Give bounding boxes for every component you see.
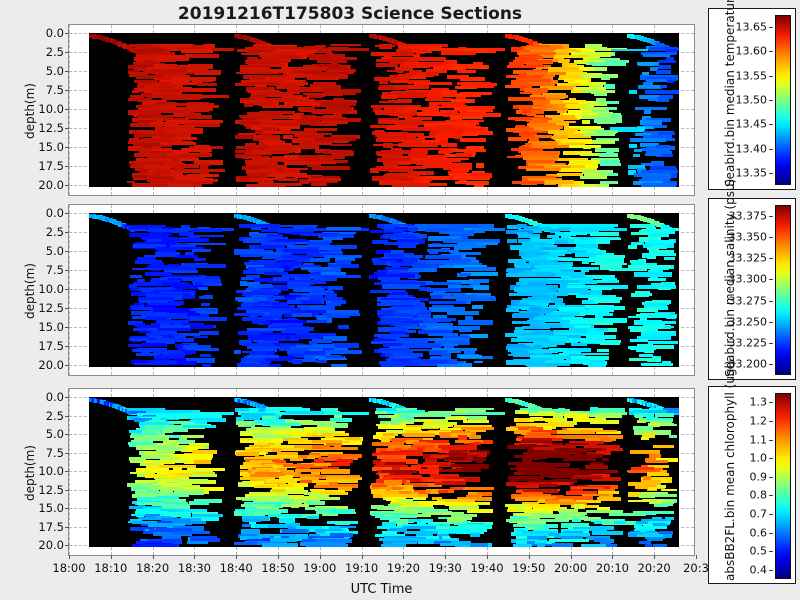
data-segment <box>325 293 337 297</box>
data-segment <box>376 168 392 171</box>
data-segment <box>331 364 347 367</box>
data-segment <box>234 542 257 545</box>
data-segment <box>667 80 674 83</box>
data-segment <box>270 538 297 542</box>
data-segment <box>292 360 302 364</box>
data-segment <box>329 512 355 515</box>
y-axis-tick-label: 10.0 <box>38 282 64 296</box>
colorbar-tick-label: 1.0 <box>750 452 768 465</box>
data-segment <box>241 511 251 516</box>
data-segment <box>552 543 573 547</box>
data-segment <box>601 77 610 80</box>
y-axis-tick-label: 7.5 <box>46 446 64 460</box>
data-segment <box>317 59 347 63</box>
x-axis-tick-label: 18:20 <box>136 561 169 575</box>
data-segment <box>185 115 213 119</box>
data-segment <box>648 487 657 490</box>
plot-area-chlorophyll <box>69 389 694 555</box>
data-segment <box>285 411 324 415</box>
data-segment <box>579 224 618 227</box>
data-segment <box>533 457 541 460</box>
data-segment <box>476 163 484 168</box>
data-segment <box>192 474 217 477</box>
data-segment <box>425 98 452 101</box>
colorbar-gradient-salinity <box>775 205 791 375</box>
data-segment <box>321 469 350 473</box>
data-segment <box>134 363 170 366</box>
y-axis-tick-label: 17.5 <box>38 520 64 534</box>
data-segment <box>664 326 674 329</box>
y-axis-tick-label: 15.0 <box>38 320 64 334</box>
data-segment <box>316 497 339 500</box>
colorbar-axis-label-temperature: Seabird.bin median temperature (degC) <box>723 0 737 187</box>
data-segment <box>279 518 295 522</box>
data-segment <box>155 95 170 99</box>
data-segment <box>582 120 590 124</box>
data-segment <box>455 86 477 90</box>
data-segment <box>419 469 439 473</box>
data-segment <box>596 239 609 242</box>
data-segment <box>393 52 402 56</box>
colorbar-tick-mark <box>769 551 773 552</box>
colorbar-tick-mark <box>769 533 773 534</box>
data-segment <box>194 70 221 74</box>
data-segment <box>282 529 306 533</box>
y-axis-tick-label: 12.5 <box>38 121 64 135</box>
data-segment <box>319 543 334 546</box>
y-axis-tick-label: 2.5 <box>46 225 64 239</box>
x-axis-tick-label: 18:10 <box>94 561 127 575</box>
data-segment <box>235 135 254 138</box>
data-segment <box>375 45 395 48</box>
data-segment <box>438 445 477 449</box>
x-axis-tick-label: 19:10 <box>345 561 378 575</box>
data-segment <box>302 181 310 184</box>
data-segment <box>338 325 349 329</box>
data-segment <box>326 227 361 230</box>
y-axis-label: depth(m) <box>23 445 37 501</box>
figure-canvas: 20191216T175803 Science Sections 0.02.55… <box>0 0 800 600</box>
y-axis-tick-label: 17.5 <box>38 339 64 353</box>
data-segment <box>637 420 647 424</box>
data-segment <box>633 154 640 157</box>
data-segment <box>530 82 549 85</box>
data-segment <box>588 363 605 367</box>
data-segment <box>553 330 588 333</box>
data-segment <box>437 364 461 367</box>
data-segment <box>132 90 139 93</box>
data-segment <box>377 506 395 509</box>
colorbar-tick-mark <box>769 402 773 403</box>
plot-area-salinity <box>69 205 694 375</box>
data-segment <box>594 300 619 303</box>
data-segment <box>194 336 208 339</box>
y-axis-tick-label: 10.0 <box>38 102 64 116</box>
data-segment <box>508 137 527 141</box>
data-segment <box>627 470 641 473</box>
y-axis-tick-label: 20.0 <box>38 538 64 552</box>
x-axis-tick-mark <box>487 555 488 559</box>
data-segment <box>143 145 153 148</box>
data-segment <box>641 437 649 440</box>
data-segment <box>427 249 450 252</box>
data-segment <box>545 363 570 366</box>
data-segment <box>464 267 496 270</box>
data-segment <box>459 328 472 332</box>
data-segment <box>191 184 203 187</box>
data-segment <box>658 60 675 63</box>
x-axis-tick-label: 20:10 <box>596 561 629 575</box>
data-segment <box>457 70 475 73</box>
x-axis-tick-mark <box>529 555 530 559</box>
data-segment <box>602 458 610 462</box>
data-segment <box>645 153 661 156</box>
data-segment <box>189 501 210 505</box>
colorbar-axis-label-salinity: Seabird.bin median salinity (psu) <box>723 179 737 377</box>
data-segment <box>651 511 673 514</box>
data-segment <box>309 258 330 262</box>
data-segment <box>185 164 193 168</box>
colorbar-tick-mark <box>769 124 773 125</box>
data-segment <box>307 77 339 80</box>
data-segment <box>404 433 435 437</box>
data-segment <box>379 101 395 104</box>
colorbar-gradient-temperature <box>775 15 791 185</box>
data-segment <box>130 275 142 278</box>
data-segment <box>594 67 606 71</box>
y-axis-tick-label: 20.0 <box>38 178 64 192</box>
data-segment <box>639 354 653 357</box>
data-segment <box>470 533 480 537</box>
data-segment <box>628 245 637 249</box>
data-segment <box>173 531 210 534</box>
data-segment <box>454 487 462 490</box>
data-segment <box>581 544 606 547</box>
data-segment <box>521 151 560 155</box>
y-axis-tick-label: 0.0 <box>46 206 64 220</box>
data-segment <box>591 430 617 433</box>
y-axis-tick-label: 5.0 <box>46 244 64 258</box>
data-segment <box>244 104 252 107</box>
data-segment <box>591 464 603 467</box>
colorbar-tick-mark <box>769 100 773 101</box>
data-segment <box>654 316 672 319</box>
x-axis-tick-label: 20:3 <box>683 561 709 575</box>
x-axis-tick-label: 19:20 <box>387 561 420 575</box>
y-axis-tick-label: 0.0 <box>46 390 64 404</box>
data-segment <box>529 418 560 421</box>
data-segment <box>192 249 211 252</box>
data-segment <box>474 184 484 187</box>
data-segment <box>181 49 213 54</box>
colorbar-tick-mark <box>769 364 773 365</box>
data-segment <box>441 51 476 55</box>
data-segment <box>473 285 489 290</box>
data-segment <box>301 267 335 270</box>
plot-panel-temperature: 0.02.55.07.510.012.515.017.520.0depth(m) <box>68 24 695 196</box>
colorbar-tick-label: 1.3 <box>750 396 768 409</box>
data-segment <box>645 90 679 94</box>
x-axis-tick-label: 19:40 <box>470 561 503 575</box>
colorbar-tick-mark <box>769 343 773 344</box>
x-axis-tick-label: 19:50 <box>512 561 545 575</box>
data-segment <box>630 138 666 141</box>
x-axis-tick-mark <box>362 555 363 559</box>
data-segment <box>141 544 177 547</box>
colorbar-tick-label: 13.45 <box>736 118 768 131</box>
data-segment <box>571 343 587 346</box>
x-axis-tick-mark <box>111 555 112 559</box>
data-segment <box>418 484 428 487</box>
data-segment <box>318 122 337 126</box>
data-segment <box>451 116 483 120</box>
plot-area-temperature <box>69 25 694 195</box>
data-segment <box>513 544 532 547</box>
x-axis-tick-mark <box>654 555 655 559</box>
data-segment <box>191 229 223 232</box>
x-axis-tick-label: 20:00 <box>554 561 587 575</box>
y-axis-tick-label: 2.5 <box>46 45 64 59</box>
data-segment <box>441 143 457 146</box>
data-segment <box>384 229 402 232</box>
y-axis-tick-label: 15.0 <box>38 501 64 515</box>
x-axis-tick-label: 18:50 <box>261 561 294 575</box>
data-segment <box>459 273 472 277</box>
data-segment <box>583 133 615 136</box>
data-segment <box>402 128 423 131</box>
data-segment <box>506 308 519 312</box>
data-segment <box>141 343 166 346</box>
y-axis-tick-label: 10.0 <box>38 464 64 478</box>
x-axis-tick-mark <box>696 555 697 559</box>
colorbar-gradient-chlorophyll <box>775 393 791 579</box>
colorbar-tick-label: 13.65 <box>736 21 768 34</box>
data-segment <box>595 320 603 324</box>
plot-panel-chlorophyll: 0.02.55.07.510.012.515.017.520.0depth(m)… <box>68 388 695 556</box>
gridline-vertical <box>69 389 70 555</box>
colorbar-tick-mark <box>769 237 773 238</box>
data-segment <box>654 504 668 508</box>
data-segment <box>192 54 217 58</box>
data-segment <box>557 173 583 176</box>
colorbar-tick-mark <box>769 322 773 323</box>
x-axis-tick-mark <box>278 555 279 559</box>
colorbar-temperature: 13.6513.6013.5513.5013.4513.4013.35Seabi… <box>708 8 796 190</box>
y-axis-tick-label: 12.5 <box>38 483 64 497</box>
data-segment <box>655 473 669 476</box>
data-segment <box>240 433 253 436</box>
data-segment <box>609 513 646 516</box>
y-axis-tick-label: 0.0 <box>46 26 64 40</box>
data-segment <box>381 363 397 367</box>
data-segment <box>262 105 293 108</box>
data-segment <box>454 247 472 250</box>
data-segment <box>447 311 479 315</box>
data-segment <box>658 287 671 290</box>
data-segment <box>530 130 539 133</box>
data-segment <box>653 544 667 547</box>
data-segment <box>249 245 260 249</box>
plot-panel-salinity: 0.02.55.07.510.012.515.017.520.0depth(m) <box>68 204 695 376</box>
data-segment <box>278 178 298 182</box>
data-segment <box>629 144 638 148</box>
data-segment <box>658 65 671 69</box>
data-segment <box>308 178 341 181</box>
data-segment <box>590 232 619 236</box>
data-segment <box>467 509 493 513</box>
data-segment <box>412 50 432 53</box>
data-segment <box>528 272 536 276</box>
y-axis-label: depth(m) <box>23 83 37 139</box>
data-region-temperature <box>89 33 679 187</box>
data-segment <box>476 460 483 463</box>
y-axis-tick-label: 7.5 <box>46 83 64 97</box>
data-region-chlorophyll <box>89 397 679 547</box>
data-segment <box>648 98 658 101</box>
x-axis-tick-mark <box>571 555 572 559</box>
page-title: 20191216T175803 Science Sections <box>0 4 700 24</box>
colorbar-tick-mark <box>769 279 773 280</box>
colorbar-axis-label-chlorophyll: absBB2FL.bin mean chlorophyll (ugl) <box>723 360 737 581</box>
x-axis-tick-label: 19:00 <box>303 561 336 575</box>
data-segment <box>267 364 280 367</box>
data-segment <box>641 363 670 366</box>
data-segment <box>541 325 550 329</box>
data-segment <box>325 350 361 354</box>
data-segment <box>262 543 299 547</box>
data-segment <box>572 519 581 522</box>
data-segment <box>190 317 228 320</box>
data-segment <box>306 320 328 323</box>
colorbar-tick-label: 13.40 <box>736 142 768 155</box>
data-segment <box>669 435 677 438</box>
data-segment <box>458 320 493 325</box>
data-segment <box>442 318 456 321</box>
data-segment <box>191 130 203 133</box>
data-segment <box>381 95 397 99</box>
colorbar-tick-mark <box>769 149 773 150</box>
x-axis-tick-mark <box>445 555 446 559</box>
data-segment <box>646 460 668 463</box>
colorbar-tick-label: 13.55 <box>736 69 768 82</box>
data-segment <box>198 287 209 290</box>
data-segment <box>586 510 623 513</box>
data-segment <box>600 163 621 166</box>
data-segment <box>378 120 388 124</box>
data-segment <box>316 360 327 363</box>
colorbar-tick-mark <box>769 421 773 422</box>
data-segment <box>609 268 647 271</box>
data-segment <box>644 109 652 113</box>
data-segment <box>283 464 314 467</box>
data-segment <box>518 418 529 422</box>
data-segment <box>598 281 611 284</box>
data-segment <box>242 524 251 527</box>
data-segment <box>241 277 254 280</box>
y-axis-tick-label: 12.5 <box>38 301 64 315</box>
data-segment <box>335 521 350 525</box>
data-segment <box>629 90 637 94</box>
data-segment <box>592 62 626 66</box>
data-segment <box>234 350 242 353</box>
colorbar-tick-label: 13.35 <box>736 166 768 179</box>
gridline-vertical <box>69 25 70 195</box>
data-segment <box>592 531 623 535</box>
colorbar-tick-mark <box>769 27 773 28</box>
data-segment <box>307 516 319 519</box>
colorbar-tick-label: 0.7 <box>750 507 768 520</box>
data-segment <box>637 62 654 65</box>
data-segment <box>311 183 327 186</box>
data-segment <box>643 183 676 187</box>
data-segment <box>435 482 456 485</box>
colorbar-tick-label: 0.9 <box>750 470 768 483</box>
data-segment <box>460 138 486 141</box>
data-segment <box>632 293 652 296</box>
data-segment <box>602 521 615 525</box>
data-segment <box>653 345 674 349</box>
data-segment <box>570 275 585 278</box>
y-axis-tick-label: 15.0 <box>38 140 64 154</box>
colorbar-tick-mark <box>769 301 773 302</box>
x-axis-tick-label: 18:40 <box>220 561 253 575</box>
x-axis-tick-mark <box>612 555 613 559</box>
data-segment <box>590 420 619 423</box>
x-axis-tick-mark <box>194 555 195 559</box>
data-segment <box>413 497 427 500</box>
data-segment <box>381 544 405 547</box>
data-segment <box>642 254 654 257</box>
data-segment <box>438 490 448 493</box>
data-segment <box>597 120 616 124</box>
data-segment <box>455 181 466 184</box>
data-segment <box>579 184 596 187</box>
data-segment <box>247 364 269 367</box>
data-segment <box>251 227 260 230</box>
x-axis-tick-mark <box>236 555 237 559</box>
x-axis-tick-label: 19:30 <box>429 561 462 575</box>
data-segment <box>514 472 523 475</box>
data-segment <box>240 254 261 257</box>
y-axis-label: depth(m) <box>23 263 37 319</box>
data-segment <box>648 278 666 281</box>
data-segment <box>323 447 358 450</box>
gridline-vertical <box>69 205 70 375</box>
data-segment <box>202 364 211 367</box>
data-segment <box>634 149 642 153</box>
data-segment <box>470 543 488 547</box>
data-segment <box>393 183 428 187</box>
data-segment <box>455 410 467 413</box>
colorbar-tick-mark <box>769 258 773 259</box>
data-segment <box>655 413 674 417</box>
x-axis-tick-mark <box>320 555 321 559</box>
colorbar-tick-label: 13.60 <box>736 45 768 58</box>
data-segment <box>146 474 175 478</box>
data-segment <box>513 353 532 357</box>
data-segment <box>537 543 545 547</box>
colorbar-tick-mark <box>769 440 773 441</box>
data-segment <box>201 303 210 307</box>
data-segment <box>474 361 483 364</box>
data-segment <box>152 272 166 275</box>
colorbar-tick-label: 13.50 <box>736 94 768 107</box>
data-segment <box>639 494 654 498</box>
data-segment <box>655 494 678 497</box>
y-axis-tick-label: 7.5 <box>46 263 64 277</box>
data-segment <box>290 458 304 462</box>
data-segment <box>199 331 219 335</box>
